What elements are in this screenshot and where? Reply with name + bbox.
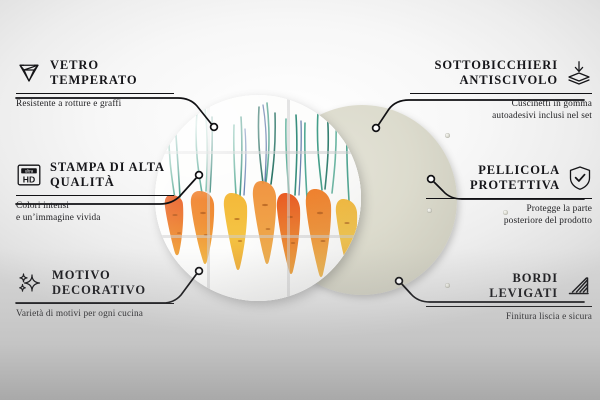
feature-subtitle-line1: Resistente a rotture e graffi xyxy=(16,98,174,110)
feature-subtitle: Colori intensi e un’immagine vivida xyxy=(16,200,174,225)
feature-subtitle-line2: posteriore del prodotto xyxy=(426,215,592,227)
feature-header: ultra HD STAMPA DI ALTA QUALITÀ xyxy=(16,160,174,190)
diamond-icon xyxy=(16,62,42,84)
feature-subtitle-line1: Colori intensi xyxy=(16,200,174,212)
reflection-line xyxy=(155,151,361,154)
feature-subtitle-line1: Varietà di motivi per ogni cucina xyxy=(16,308,174,320)
feature-tempered-glass: VETRO TEMPERATO Resistente a rotture e g… xyxy=(16,58,174,110)
reflection-line xyxy=(287,95,290,301)
feature-title: STAMPA DI ALTA QUALITÀ xyxy=(50,160,165,190)
feature-title: SOTTOBICCHIERI ANTISCIVOLO xyxy=(434,58,558,88)
press-pad-icon xyxy=(566,60,592,86)
ultra-hd-icon-label-top: ultra xyxy=(25,168,34,173)
feature-subtitle: Cuscinetti in gomma autoadesivi inclusi … xyxy=(410,98,592,123)
feature-title-line2: PROTETTIVA xyxy=(470,178,560,193)
feature-subtitle-line1: Finitura liscia e sicura xyxy=(426,311,592,323)
shield-check-icon xyxy=(568,165,592,191)
ultra-hd-icon-label-bottom: HD xyxy=(23,174,35,184)
feature-high-quality-print: ultra HD STAMPA DI ALTA QUALITÀ Colori i… xyxy=(16,160,174,225)
feature-divider xyxy=(16,195,174,197)
feature-subtitle: Finitura liscia e sicura xyxy=(426,311,592,323)
feature-title-line2: ANTISCIVOLO xyxy=(434,73,558,88)
feature-title-line2: TEMPERATO xyxy=(50,73,138,88)
feature-subtitle-line2: e un’immagine vivida xyxy=(16,212,174,224)
feature-title: VETRO TEMPERATO xyxy=(50,58,138,88)
feature-title-line1: BORDI xyxy=(489,271,558,286)
feature-title-line2: LEVIGATI xyxy=(489,286,558,301)
product-image xyxy=(155,95,455,310)
reflection-line xyxy=(155,235,361,238)
feature-header: PELLICOLA PROTETTIVA xyxy=(426,163,592,193)
feature-title-line2: QUALITÀ xyxy=(50,175,165,190)
carrot-illustration xyxy=(155,95,361,301)
feature-divider xyxy=(426,306,592,308)
feature-title-line1: STAMPA DI ALTA xyxy=(50,160,165,175)
sparkle-icon xyxy=(16,271,44,295)
feature-polished-edges: BORDI LEVIGATI Finitura liscia e sicura xyxy=(426,271,592,323)
feature-protective-film: PELLICOLA PROTETTIVA Protegge la parte p… xyxy=(426,163,592,228)
feature-subtitle-line2: autoadesivi inclusi nel set xyxy=(410,110,592,122)
feature-title: BORDI LEVIGATI xyxy=(489,271,558,301)
feature-non-slip-coasters: SOTTOBICCHIERI ANTISCIVOLO Cuscinetti in… xyxy=(410,58,592,123)
feature-title-line1: MOTIVO xyxy=(52,268,146,283)
feature-divider xyxy=(16,303,174,305)
feature-title-line2: DECORATIVO xyxy=(52,283,146,298)
feature-header: SOTTOBICCHIERI ANTISCIVOLO xyxy=(410,58,592,88)
feature-header: MOTIVO DECORATIVO xyxy=(16,268,174,298)
carrot-artwork xyxy=(155,95,361,301)
feature-divider xyxy=(426,198,592,200)
feature-title-line1: PELLICOLA xyxy=(470,163,560,178)
feature-header: BORDI LEVIGATI xyxy=(426,271,592,301)
feature-title-line1: VETRO xyxy=(50,58,138,73)
feature-subtitle: Varietà di motivi per ogni cucina xyxy=(16,308,174,320)
feature-divider xyxy=(16,93,174,95)
feature-title: PELLICOLA PROTETTIVA xyxy=(470,163,560,193)
glass-board-front xyxy=(155,95,361,301)
feature-header: VETRO TEMPERATO xyxy=(16,58,174,88)
feature-subtitle-line1: Cuscinetti in gomma xyxy=(410,98,592,110)
product-infographic: VETRO TEMPERATO Resistente a rotture e g… xyxy=(0,0,600,400)
feature-title: MOTIVO DECORATIVO xyxy=(52,268,146,298)
feature-title-line1: SOTTOBICCHIERI xyxy=(434,58,558,73)
feature-divider xyxy=(410,93,592,95)
ultra-hd-icon: ultra HD xyxy=(16,163,42,187)
reflection-line xyxy=(207,95,210,301)
rubber-pad xyxy=(445,133,450,138)
feature-decorative-motif: MOTIVO DECORATIVO Varietà di motivi per … xyxy=(16,268,174,320)
feature-subtitle: Resistente a rotture e graffi xyxy=(16,98,174,110)
feature-subtitle: Protegge la parte posteriore del prodott… xyxy=(426,203,592,228)
feature-subtitle-line1: Protegge la parte xyxy=(426,203,592,215)
hatched-triangle-icon xyxy=(566,274,592,298)
